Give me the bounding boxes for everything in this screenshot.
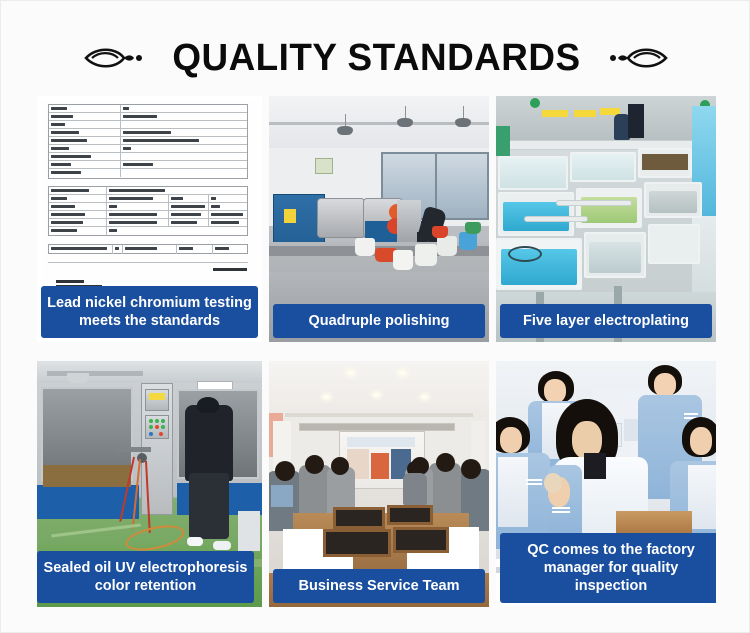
card-qc-inspection[interactable]: QC comes to the factory manager for qual… xyxy=(496,361,716,607)
card-caption: Quadruple polishing xyxy=(273,304,485,338)
card-five-layer-electroplating[interactable]: Five layer electroplating xyxy=(496,96,716,342)
leaf-flourish-left-icon xyxy=(82,43,144,73)
card-caption: Lead nickel chromium testing meets the s… xyxy=(41,286,258,338)
page-header: QUALITY STANDARDS xyxy=(1,29,750,87)
page-root: QUALITY STANDARDS xyxy=(0,0,750,633)
quality-standards-grid: Lead nickel chromium testing meets the s… xyxy=(37,96,716,607)
card-caption: Five layer electroplating xyxy=(500,304,712,338)
card-lead-nickel-chromium[interactable]: Lead nickel chromium testing meets the s… xyxy=(37,96,262,342)
leaf-flourish-right-icon xyxy=(608,43,670,73)
card-business-service-team[interactable]: Business Service Team xyxy=(269,361,489,607)
card-quadruple-polishing[interactable]: Quadruple polishing xyxy=(269,96,489,342)
card-caption: Business Service Team xyxy=(273,569,485,603)
card-sealed-oil-uv-electrophoresis[interactable]: Sealed oil UV electrophoresis color rete… xyxy=(37,361,262,607)
card-caption: QC comes to the factory manager for qual… xyxy=(500,533,716,603)
card-caption: Sealed oil UV electrophoresis color rete… xyxy=(37,551,254,603)
page-title: QUALITY STANDARDS xyxy=(172,39,580,77)
